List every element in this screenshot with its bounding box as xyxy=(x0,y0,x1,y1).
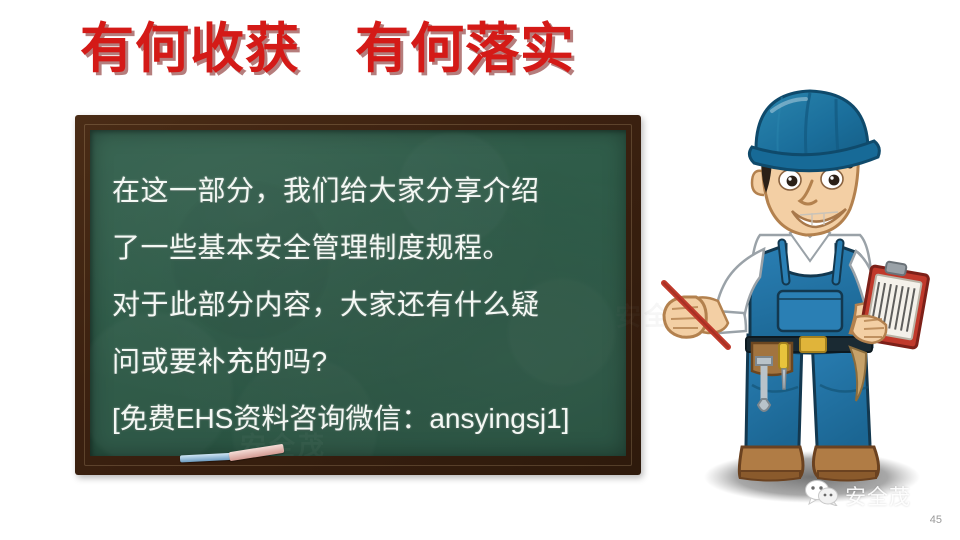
wechat-icon xyxy=(805,480,839,511)
blackboard-surface: 安全茂 在这一部分，我们给大家分享介绍 了一些基本安全管理制度规程。 对于此部分… xyxy=(90,130,626,456)
overalls-pocket xyxy=(778,291,842,331)
board-line-3: 对于此部分内容，大家还有什么疑 xyxy=(112,276,612,333)
board-line-4: 问或要补充的吗? xyxy=(112,333,612,390)
page-number: 45 xyxy=(930,514,942,526)
safety-worker-illustration xyxy=(660,85,960,515)
belt-buckle xyxy=(800,337,826,352)
brand-footer: 安全茂 xyxy=(805,480,911,511)
board-line-1: 在这一部分，我们给大家分享介绍 xyxy=(112,162,612,219)
worker-left-hand xyxy=(852,316,886,343)
chalk-tray xyxy=(180,448,300,462)
board-line-2: 了一些基本安全管理制度规程。 xyxy=(112,219,612,276)
brand-name: 安全茂 xyxy=(845,481,911,511)
hard-hat-icon xyxy=(749,91,879,171)
blackboard: 安全茂 在这一部分，我们给大家分享介绍 了一些基本安全管理制度规程。 对于此部分… xyxy=(75,115,641,475)
page-title: 有何收获 有何落实 xyxy=(80,20,575,79)
blackboard-text-block: 在这一部分，我们给大家分享介绍 了一些基本安全管理制度规程。 对于此部分内容，大… xyxy=(112,162,612,447)
board-line-5: [免费EHS资料咨询微信：ansyingsj1] xyxy=(112,390,612,447)
